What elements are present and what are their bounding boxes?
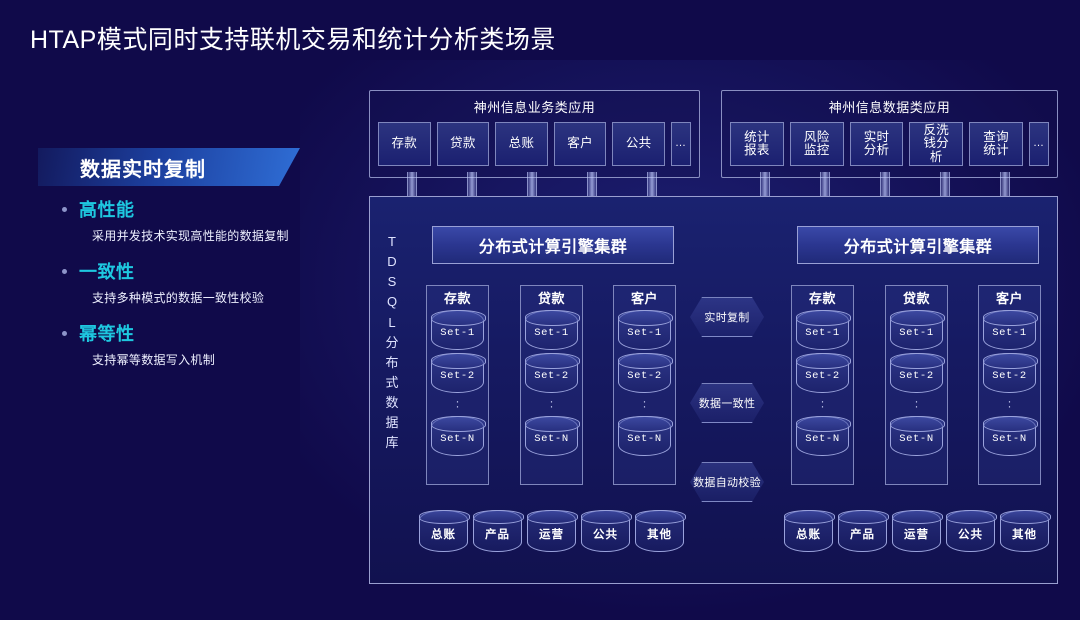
set-column: 贷款Set-1Set-2··Set-N xyxy=(520,285,583,485)
set-column-title: 客户 xyxy=(614,286,675,307)
bottom-cylinder[interactable]: 运营 xyxy=(527,510,576,552)
bottom-cylinder[interactable]: 其他 xyxy=(1000,510,1049,552)
app-group-data: 神州信息数据类应用 统计报表 风险监控 实时分析 反洗钱分析 查询统计 … xyxy=(721,90,1058,178)
set-node-cylinder[interactable]: Set-2 xyxy=(796,353,849,393)
set-column-title: 存款 xyxy=(427,286,488,307)
compute-engine-cluster-left: 分布式计算引擎集群 xyxy=(432,226,674,264)
vertical-ellipsis-icon: ·· xyxy=(614,393,675,413)
tdsql-label-char: 布 xyxy=(378,353,406,373)
bottom-cylinder[interactable]: 总账 xyxy=(784,510,833,552)
bullet-dot-icon xyxy=(62,207,67,212)
vertical-ellipsis-icon: ·· xyxy=(886,393,947,413)
set-node-cylinder[interactable]: Set-2 xyxy=(431,353,484,393)
app-item-more[interactable]: … xyxy=(1029,122,1049,166)
bullet-title: 幂等性 xyxy=(79,320,135,346)
set-node-label: Set-N xyxy=(440,433,475,445)
compute-engine-cluster-right: 分布式计算引擎集群 xyxy=(797,226,1039,264)
set-node-label: Set-1 xyxy=(805,327,840,339)
bullet-desc: 支持多种模式的数据一致性校验 xyxy=(92,289,362,306)
set-column-title: 贷款 xyxy=(521,286,582,307)
set-node-label: Set-2 xyxy=(805,370,840,382)
set-node-cylinder[interactable]: Set-N xyxy=(796,416,849,456)
set-node-cylinder[interactable]: Set-1 xyxy=(618,310,671,350)
bottom-cylinder-label: 运营 xyxy=(539,526,564,542)
bottom-cylinder[interactable]: 总账 xyxy=(419,510,468,552)
bullet-desc: 采用并发技术实现高性能的数据复制 xyxy=(92,227,362,244)
tdsql-label-char: 库 xyxy=(378,433,406,453)
set-node-label: Set-1 xyxy=(992,327,1027,339)
bottom-cylinder-label: 总账 xyxy=(796,526,821,542)
app-group-title: 神州信息数据类应用 xyxy=(722,91,1057,116)
set-column-title: 客户 xyxy=(979,286,1040,307)
set-node-cylinder[interactable]: Set-N xyxy=(431,416,484,456)
bottom-cylinder-label: 产品 xyxy=(850,526,875,542)
set-column: 客户Set-1Set-2··Set-N xyxy=(613,285,676,485)
set-node-label: Set-2 xyxy=(534,370,569,382)
feature-bullet-list: 高性能 采用并发技术实现高性能的数据复制 一致性 支持多种模式的数据一致性校验 … xyxy=(62,196,362,382)
bottom-cylinder-label: 产品 xyxy=(485,526,510,542)
set-node-cylinder[interactable]: Set-N xyxy=(983,416,1036,456)
bullet-title: 高性能 xyxy=(79,196,135,222)
app-item[interactable]: 统计报表 xyxy=(730,122,784,166)
set-node-cylinder[interactable]: Set-1 xyxy=(890,310,943,350)
double-arrow-label: 实时复制 xyxy=(704,309,749,325)
set-column: 存款Set-1Set-2··Set-N xyxy=(426,285,489,485)
app-item[interactable]: 客户 xyxy=(554,122,607,166)
page-title: HTAP模式同时支持联机交易和统计分析类场景 xyxy=(30,20,556,56)
bullet-desc: 支持幂等数据写入机制 xyxy=(92,351,362,368)
bottom-cylinder-label: 运营 xyxy=(904,526,929,542)
set-node-cylinder[interactable]: Set-2 xyxy=(618,353,671,393)
bottom-cylinder-label: 公共 xyxy=(958,526,983,542)
app-group-items: 统计报表 风险监控 实时分析 反洗钱分析 查询统计 … xyxy=(722,116,1057,166)
set-node-label: Set-1 xyxy=(899,327,934,339)
tdsql-label-char: 式 xyxy=(378,373,406,393)
tdsql-label-char: 数 xyxy=(378,393,406,413)
set-node-cylinder[interactable]: Set-1 xyxy=(431,310,484,350)
set-node-label: Set-2 xyxy=(627,370,662,382)
bullet-dot-icon xyxy=(62,269,67,274)
tdsql-label-char: 据 xyxy=(378,413,406,433)
set-node-cylinder[interactable]: Set-2 xyxy=(525,353,578,393)
tdsql-label-char: L xyxy=(378,313,406,333)
bottom-cylinder[interactable]: 公共 xyxy=(581,510,630,552)
app-group-items: 存款 贷款 总账 客户 公共 … xyxy=(370,116,699,166)
bottom-cylinder[interactable]: 其他 xyxy=(635,510,684,552)
vertical-ellipsis-icon: ·· xyxy=(792,393,853,413)
double-arrow-label: 数据自动校验 xyxy=(693,474,761,490)
set-node-cylinder[interactable]: Set-N xyxy=(618,416,671,456)
set-column-title: 贷款 xyxy=(886,286,947,307)
set-node-label: Set-N xyxy=(534,433,569,445)
list-item: 高性能 采用并发技术实现高性能的数据复制 xyxy=(62,196,362,244)
set-column-title: 存款 xyxy=(792,286,853,307)
bottom-cylinder[interactable]: 产品 xyxy=(473,510,522,552)
set-node-cylinder[interactable]: Set-2 xyxy=(890,353,943,393)
tdsql-label-char: 分 xyxy=(378,333,406,353)
tdsql-label-char: Q xyxy=(378,292,406,312)
set-node-label: Set-N xyxy=(899,433,934,445)
bullet-title: 一致性 xyxy=(79,258,135,284)
double-arrow-icon: 数据自动校验 xyxy=(690,462,764,502)
tdsql-label-char: T xyxy=(378,232,406,252)
bottom-cylinder[interactable]: 运营 xyxy=(892,510,941,552)
set-node-label: Set-N xyxy=(992,433,1027,445)
bullet-dot-icon xyxy=(62,331,67,336)
vertical-ellipsis-icon: ·· xyxy=(521,393,582,413)
tdsql-label-char: D xyxy=(378,252,406,272)
app-item[interactable]: 存款 xyxy=(378,122,431,166)
bottom-cylinder-label: 其他 xyxy=(1012,526,1037,542)
bottom-cylinder-label: 总账 xyxy=(431,526,456,542)
app-item[interactable]: 公共 xyxy=(612,122,665,166)
app-item[interactable]: 贷款 xyxy=(437,122,490,166)
app-item[interactable]: 总账 xyxy=(495,122,548,166)
app-group-business: 神州信息业务类应用 存款 贷款 总账 客户 公共 … xyxy=(369,90,700,178)
bottom-cylinder-label: 公共 xyxy=(593,526,618,542)
set-node-label: Set-N xyxy=(627,433,662,445)
set-node-label: Set-N xyxy=(805,433,840,445)
app-group-title: 神州信息业务类应用 xyxy=(370,91,699,116)
vertical-ellipsis-icon: ·· xyxy=(427,393,488,413)
set-node-cylinder[interactable]: Set-N xyxy=(890,416,943,456)
set-node-label: Set-2 xyxy=(440,370,475,382)
double-arrow-icon: 实时复制 xyxy=(690,297,764,337)
set-node-cylinder[interactable]: Set-2 xyxy=(983,353,1036,393)
app-item[interactable]: 查询统计 xyxy=(969,122,1023,166)
set-node-cylinder[interactable]: Set-1 xyxy=(525,310,578,350)
set-node-label: Set-2 xyxy=(992,370,1027,382)
set-node-label: Set-2 xyxy=(899,370,934,382)
app-item[interactable]: 反洗钱分析 xyxy=(909,122,963,166)
app-item-more[interactable]: … xyxy=(671,122,691,166)
double-arrow-label: 数据一致性 xyxy=(699,395,756,411)
bottom-cylinder[interactable]: 产品 xyxy=(838,510,887,552)
list-item: 一致性 支持多种模式的数据一致性校验 xyxy=(62,258,362,306)
app-item[interactable]: 风险监控 xyxy=(790,122,844,166)
set-column: 存款Set-1Set-2··Set-N xyxy=(791,285,854,485)
tdsql-label-char: S xyxy=(378,272,406,292)
app-item[interactable]: 实时分析 xyxy=(850,122,904,166)
bottom-cylinder-label: 其他 xyxy=(647,526,672,542)
set-node-label: Set-1 xyxy=(534,327,569,339)
list-item: 幂等性 支持幂等数据写入机制 xyxy=(62,320,362,368)
set-node-cylinder[interactable]: Set-N xyxy=(525,416,578,456)
set-column: 客户Set-1Set-2··Set-N xyxy=(978,285,1041,485)
set-node-label: Set-1 xyxy=(440,327,475,339)
double-arrow-icon: 数据一致性 xyxy=(690,383,764,423)
tdsql-vertical-label: TDSQL分布式数据库 xyxy=(378,232,406,454)
set-column: 贷款Set-1Set-2··Set-N xyxy=(885,285,948,485)
set-node-cylinder[interactable]: Set-1 xyxy=(796,310,849,350)
set-node-label: Set-1 xyxy=(627,327,662,339)
set-node-cylinder[interactable]: Set-1 xyxy=(983,310,1036,350)
bottom-cylinder[interactable]: 公共 xyxy=(946,510,995,552)
section-banner-label: 数据实时复制 xyxy=(80,153,206,182)
section-banner: 数据实时复制 xyxy=(38,148,300,186)
vertical-ellipsis-icon: ·· xyxy=(979,393,1040,413)
